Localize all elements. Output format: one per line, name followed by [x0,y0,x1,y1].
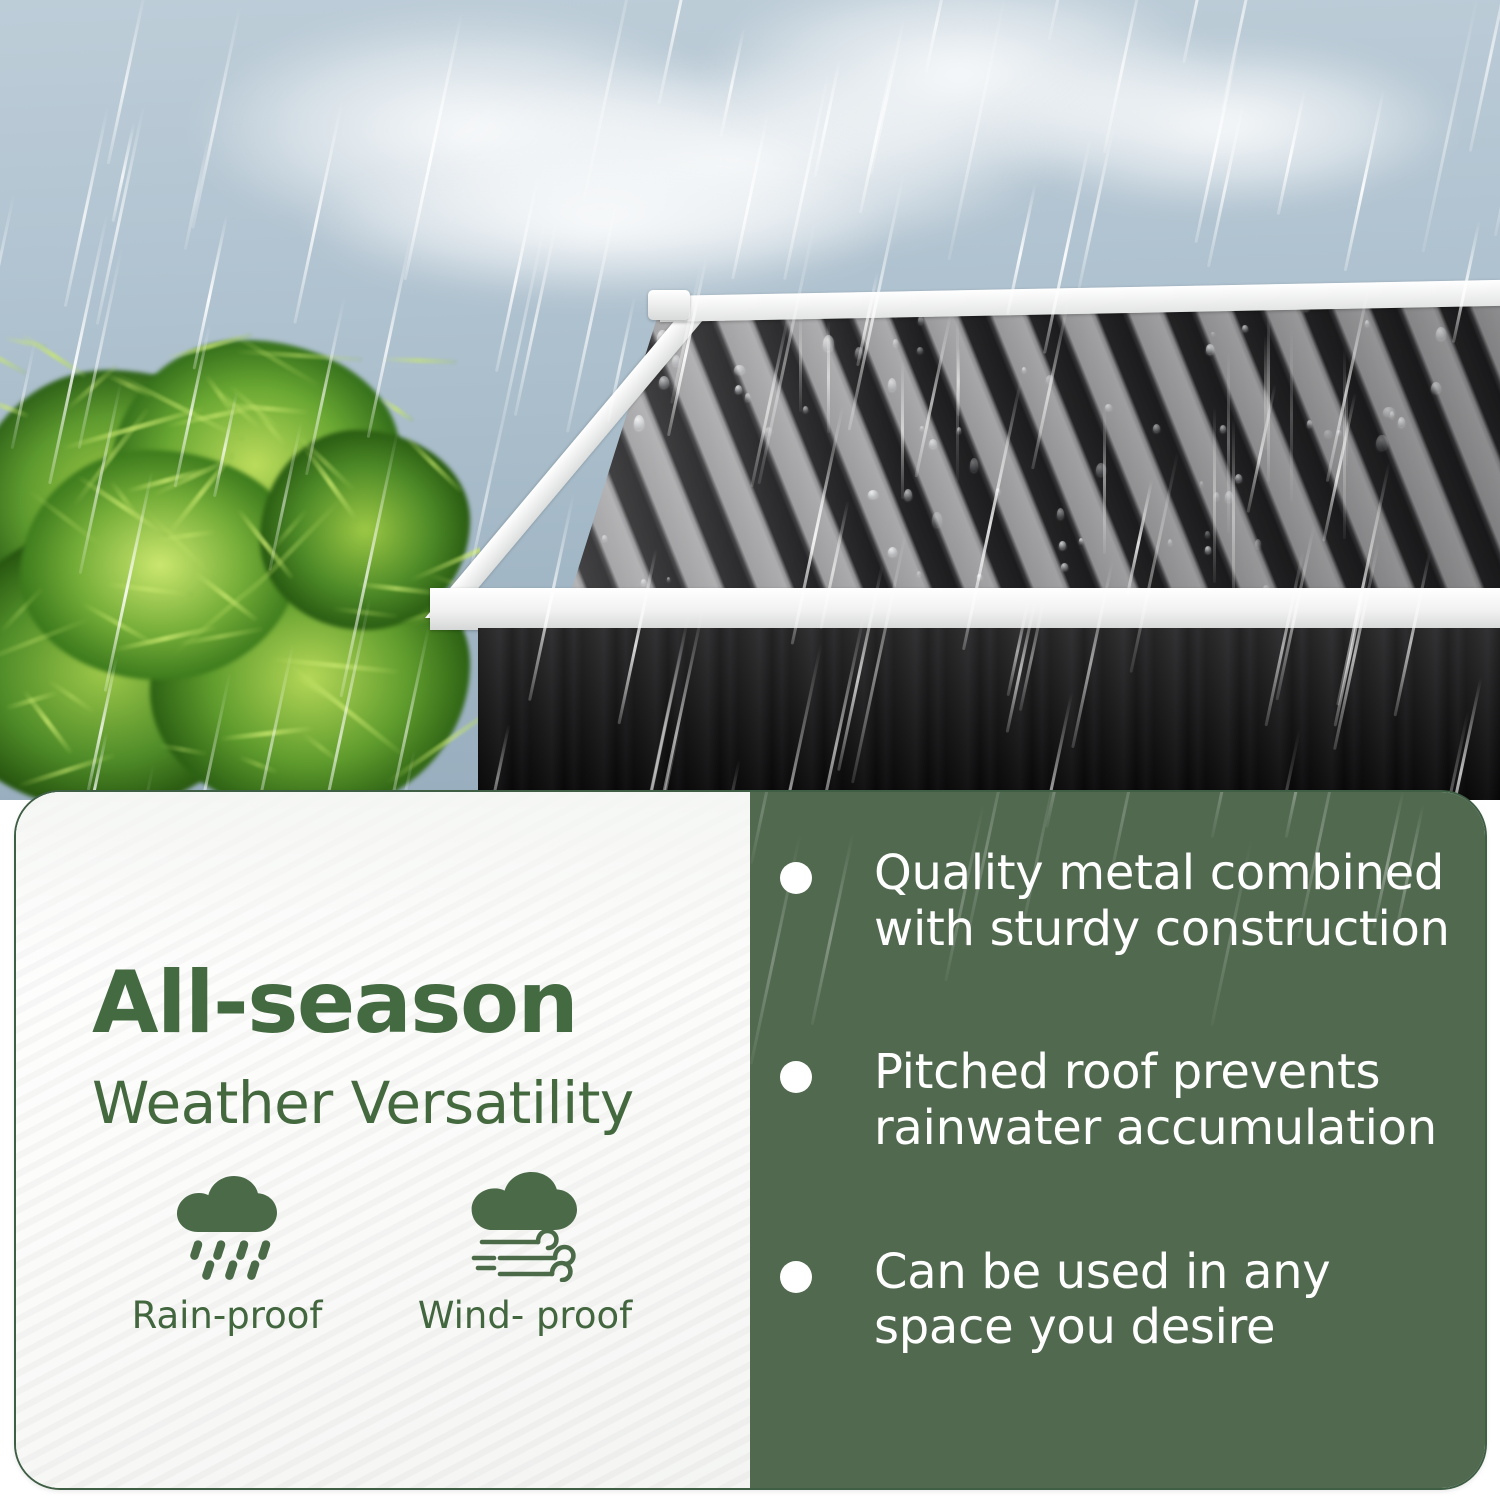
water-runoff [1213,407,1216,583]
water-droplet [803,406,808,412]
water-runoff [827,321,830,433]
water-droplet [1220,425,1227,432]
water-runoff [1267,313,1270,482]
water-droplet [602,535,606,541]
water-droplet [765,427,773,435]
water-droplet [1365,320,1369,326]
bullet-dot-icon [780,862,812,894]
water-droplet [1061,563,1068,570]
list-item: Pitched roof prevents rainwater accumula… [780,1045,1455,1156]
water-droplet [1205,546,1212,553]
rain-streak [1211,792,1238,838]
water-droplet [464,343,473,350]
water-droplet [932,512,942,527]
water-droplet [536,316,541,323]
water-droplet [917,571,921,576]
water-runoff [1345,372,1348,466]
water-droplet [1255,539,1262,549]
card-left-panel: All-season Weather Versatility [16,792,750,1488]
bullet-dot-icon [780,1061,812,1093]
water-runoff [799,312,802,412]
water-droplet [498,565,509,575]
water-droplet [562,373,567,379]
water-droplet [1383,407,1395,417]
water-droplet [904,489,912,500]
water-runoff [1103,407,1106,554]
water-runoff [1227,351,1230,534]
page-subtitle: Weather Versatility [92,1074,634,1132]
water-droplet [823,335,834,351]
water-droplet [855,347,863,358]
rain-streak [1045,792,1071,828]
water-droplet [1431,382,1441,393]
water-droplet [977,574,982,578]
water-droplet [1096,463,1106,476]
water-droplet [565,379,569,382]
water-droplet [1046,375,1054,383]
page-title: All-season [92,960,634,1046]
water-droplet [1337,430,1341,434]
water-droplet [970,458,979,472]
water-droplet [1200,481,1203,485]
water-droplet [1059,541,1065,549]
water-droplet [634,415,644,430]
water-droplet [667,577,670,581]
water-droplet [917,347,923,353]
water-droplet [1211,332,1215,335]
list-item: Quality metal combined with sturdy const… [780,846,1455,957]
water-droplet [544,442,555,456]
water-droplet [1398,417,1405,427]
garden-shed [0,0,1500,800]
water-droplet [517,395,522,399]
water-droplet [734,365,745,375]
water-droplet [1105,404,1112,411]
water-droplet [893,339,897,346]
water-droplet [1168,539,1173,546]
water-droplet [450,434,459,446]
water-droplet [440,442,450,450]
water-droplet [556,360,566,373]
benefit-text: Pitched roof prevents rainwater accumula… [874,1045,1455,1156]
water-droplet [554,408,559,412]
water-runoff [1264,336,1267,451]
water-droplet [745,393,751,400]
shed-roof [430,300,1500,630]
water-droplet [641,579,646,585]
water-droplet [1214,492,1219,500]
water-droplet [1436,327,1447,340]
water-runoff [901,361,904,499]
water-droplet [918,316,923,324]
water-droplet [957,427,962,433]
water-droplet [1205,531,1210,537]
roof-trim-bottom [430,588,1500,630]
product-photo [0,0,1500,800]
benefit-text: Can be used in any space you desire [874,1245,1455,1356]
water-droplet [672,355,680,366]
wind-cloud-icon [460,1170,590,1288]
card-right-panel: Quality metal combined with sturdy const… [750,792,1485,1488]
water-runoff [957,347,960,416]
water-droplet [437,485,441,491]
rain-cloud-icon [168,1170,286,1288]
water-runoff [956,310,959,481]
water-droplet [1235,474,1242,482]
water-droplet [929,439,937,447]
water-droplet [1390,411,1395,418]
roof-trim-cap [648,290,690,320]
water-droplet [545,548,552,555]
water-droplet [920,426,925,430]
water-runoff [1290,328,1293,501]
water-droplet [495,364,507,378]
water-droplet [1376,435,1388,451]
shed-wall [478,628,1500,800]
water-droplet [1307,420,1313,426]
water-droplet [1079,538,1084,543]
water-droplet [735,385,742,393]
water-droplet [888,378,896,391]
water-droplet [996,488,1000,495]
feature-wind-proof: Wind- proof [376,1170,674,1337]
water-droplet [888,547,897,556]
water-droplet [443,533,452,542]
feature-label: Rain-proof [132,1294,323,1337]
water-droplet [868,490,878,498]
water-droplet [446,377,455,391]
benefit-text: Quality metal combined with sturdy const… [874,846,1455,957]
marketing-image: All-season Weather Versatility [0,0,1500,1500]
water-droplet [451,498,463,512]
feature-rain-proof: Rain-proof [78,1170,376,1337]
water-droplet [580,485,589,496]
feature-icons-row: Rain-proof [78,1170,698,1337]
rain-streak [750,792,777,864]
water-droplet [1057,508,1065,519]
water-droplet [1206,344,1215,353]
water-droplet [1022,367,1026,373]
water-runoff [1343,347,1346,539]
water-droplet [1153,424,1160,432]
water-droplet [472,396,482,406]
rain-streak [1285,792,1312,838]
bullet-dot-icon [780,1261,812,1293]
list-item: Can be used in any space you desire [780,1245,1455,1356]
heading-block: All-season Weather Versatility [92,960,634,1132]
benefit-list: Quality metal combined with sturdy const… [780,846,1455,1356]
feature-label: Wind- proof [418,1294,632,1337]
water-droplet [1242,325,1248,331]
water-droplet [659,376,669,388]
water-droplet [1225,491,1233,503]
feature-card: All-season Weather Versatility [14,790,1487,1490]
water-droplet [1324,430,1332,438]
